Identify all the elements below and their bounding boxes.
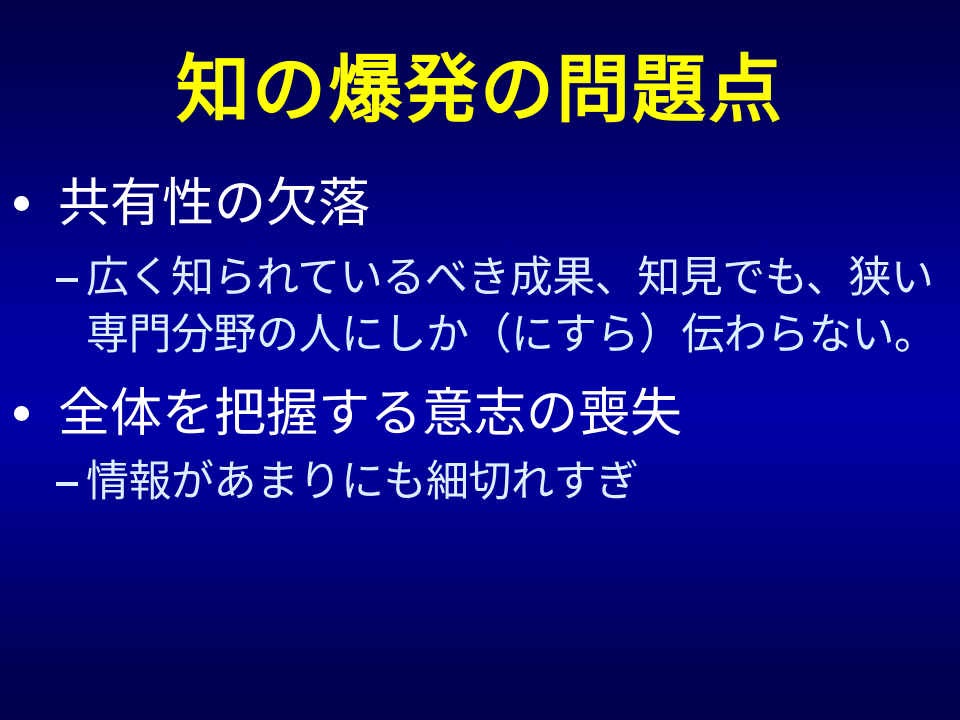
page-title: 知の爆発の問題点 xyxy=(0,44,960,136)
bullet-item-1-label: 共有性の欠落 xyxy=(58,172,960,236)
sub-bullet-item-1: 広く知られているべき成果、知見でも、狭い 専門分野の人にしか（にすら）伝わらない… xyxy=(0,250,960,364)
dash-bullet-icon xyxy=(56,278,78,282)
spacer xyxy=(0,236,960,250)
disc-bullet-icon xyxy=(14,196,29,211)
spacer xyxy=(0,446,960,454)
bullet-item-1: 共有性の欠落 xyxy=(0,172,960,236)
sub-bullet-line: 情報があまりにも細切れすぎ xyxy=(86,454,960,511)
bullet-item-2-label: 全体を把握する意志の喪失 xyxy=(58,382,960,446)
disc-bullet-icon xyxy=(14,406,29,421)
dash-bullet-icon xyxy=(56,482,78,486)
sub-bullet-line: 広く知られているべき成果、知見でも、狭い xyxy=(86,250,960,307)
sub-bullet-item-2-lines: 情報があまりにも細切れすぎ xyxy=(86,454,960,511)
spacer xyxy=(0,364,960,382)
bullet-item-2: 全体を把握する意志の喪失 xyxy=(0,382,960,446)
sub-bullet-item-1-lines: 広く知られているべき成果、知見でも、狭い 専門分野の人にしか（にすら）伝わらない… xyxy=(86,250,960,364)
slide-body: 共有性の欠落 広く知られているべき成果、知見でも、狭い 専門分野の人にしか（にす… xyxy=(0,172,960,511)
sub-bullet-item-2: 情報があまりにも細切れすぎ xyxy=(0,454,960,511)
sub-bullet-line: 専門分野の人にしか（にすら）伝わらない。 xyxy=(86,307,960,364)
presentation-slide: 知の爆発の問題点 共有性の欠落 広く知られているべき成果、知見でも、狭い 専門分… xyxy=(0,0,960,720)
